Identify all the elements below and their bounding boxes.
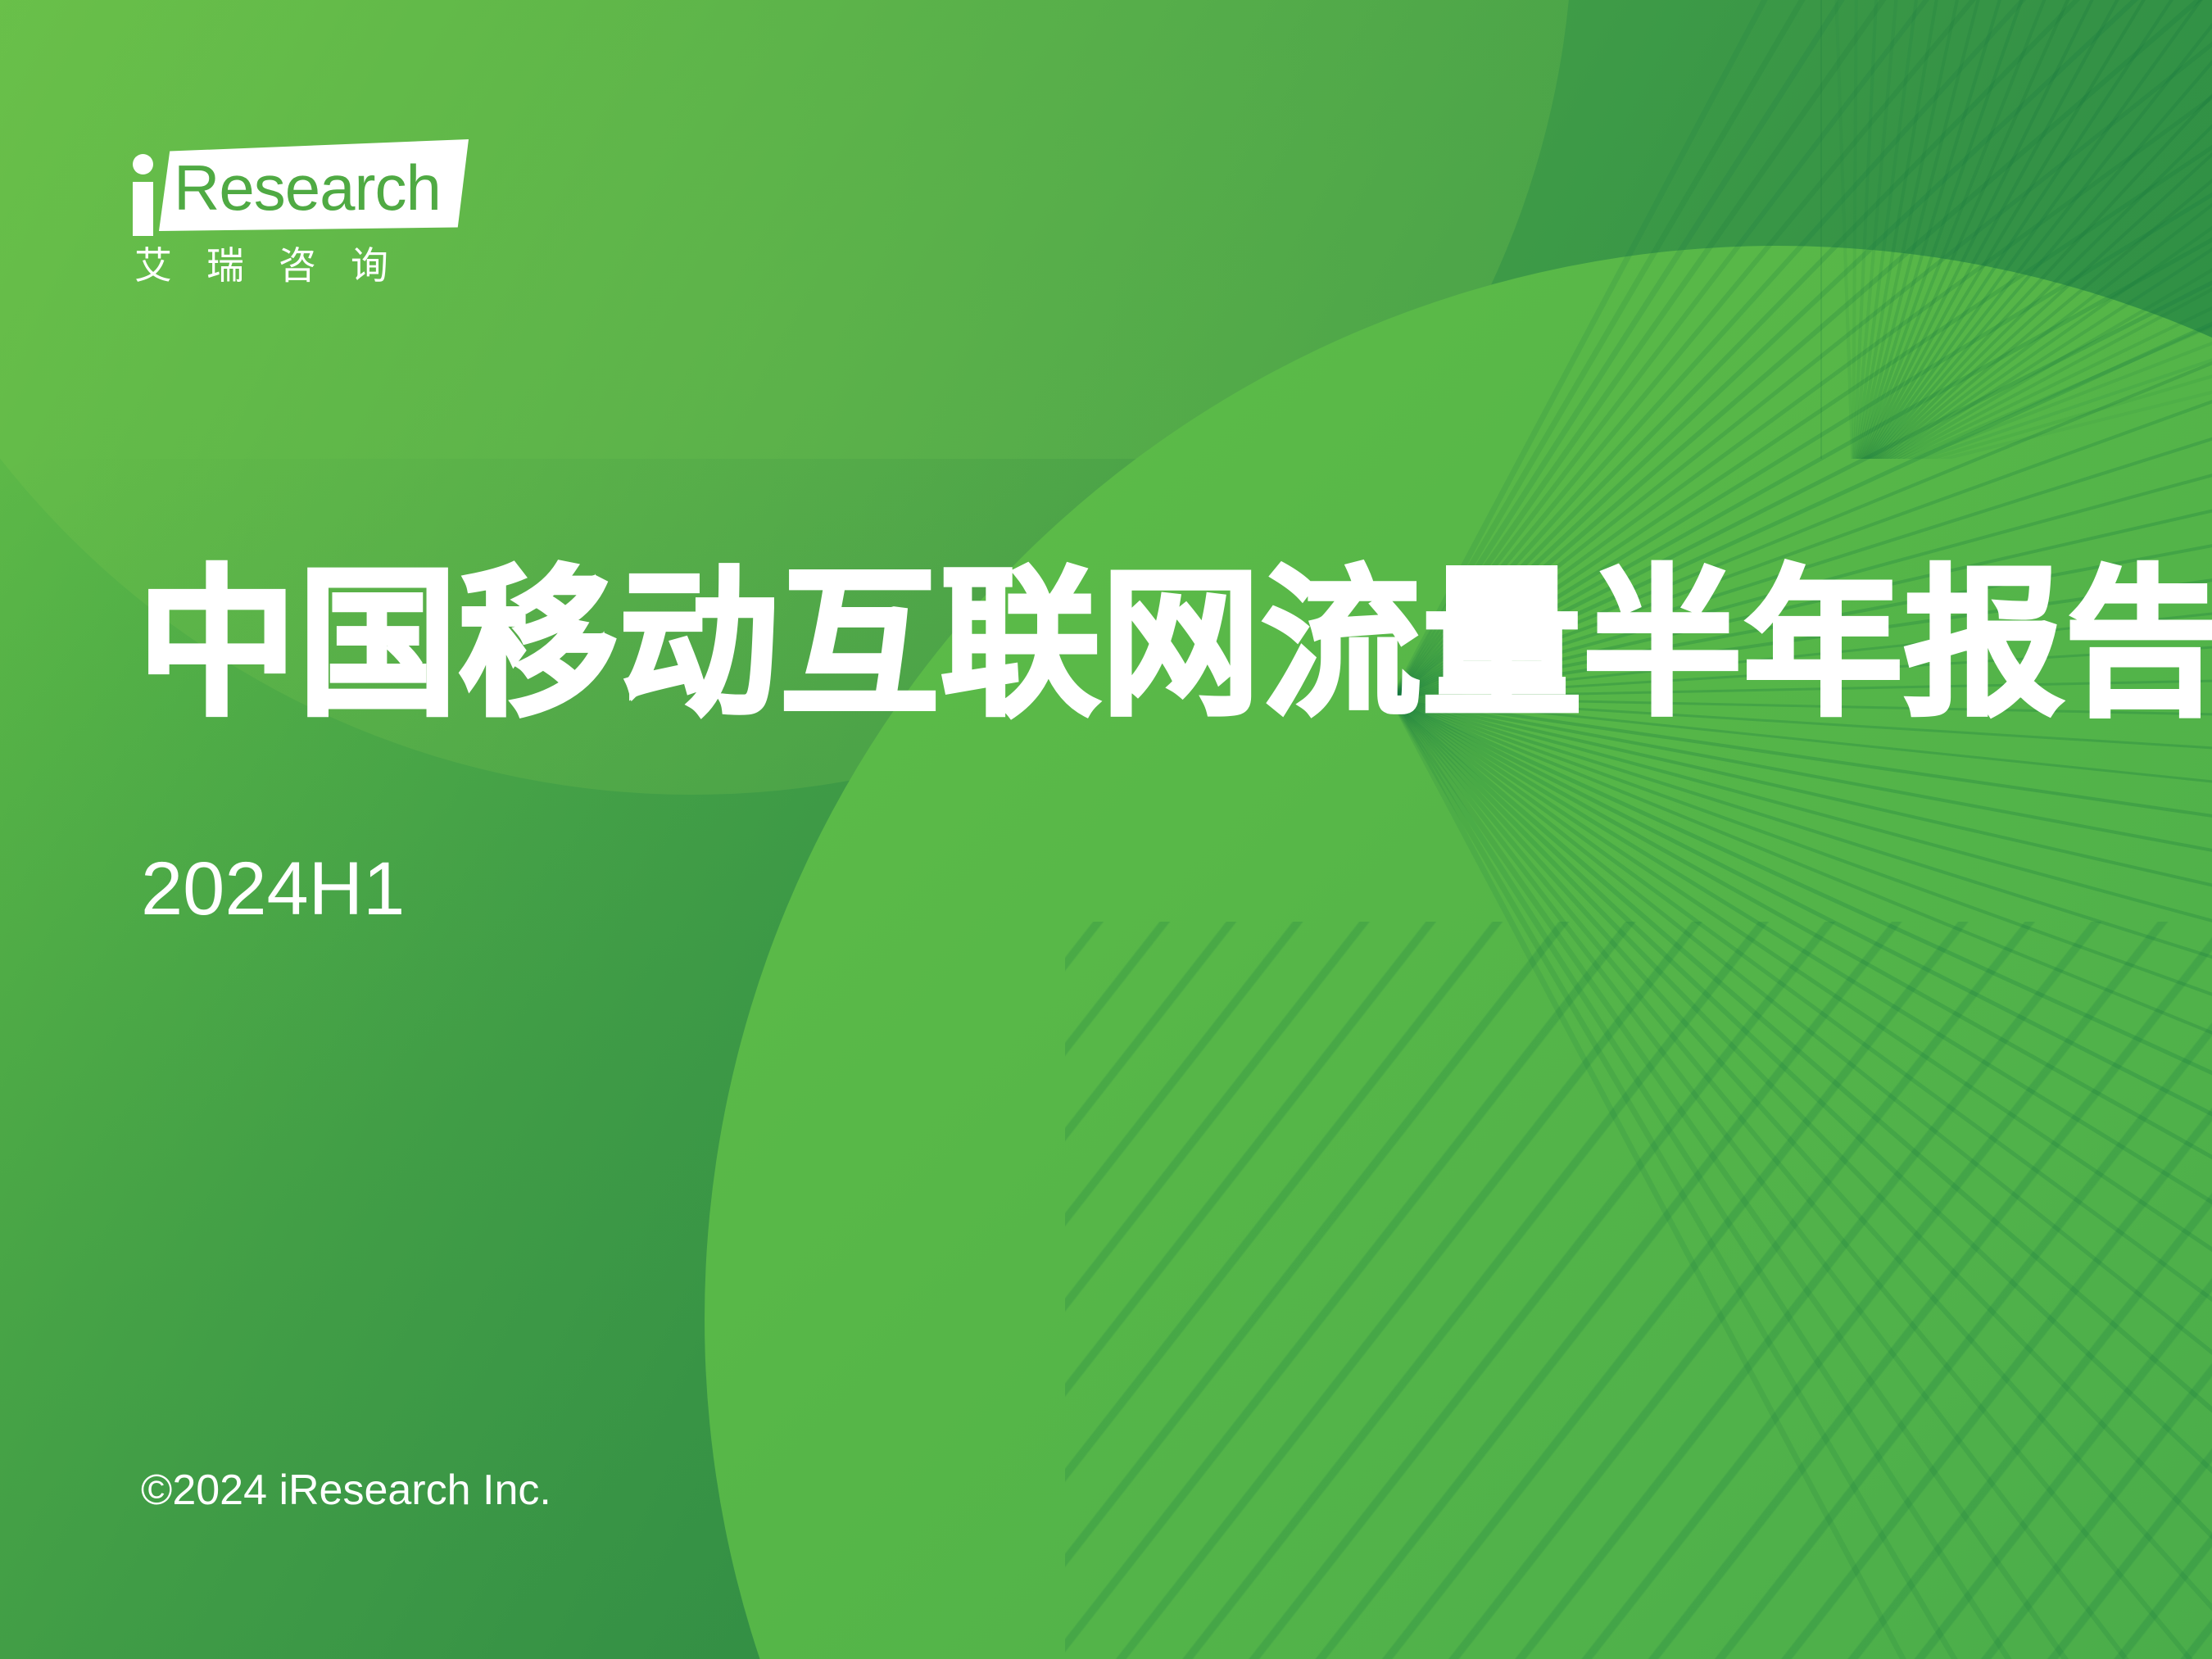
logo-mark: Research	[131, 139, 475, 238]
page-title: 中国移动互联网流量半年报告	[138, 551, 2212, 739]
iresearch-logo: Research 艾瑞咨询	[131, 139, 475, 303]
logo-i-letter	[131, 154, 152, 223]
logo-chinese-name: 艾瑞咨询	[134, 244, 423, 287]
logo-i-stem	[133, 182, 153, 236]
page-subtitle: 2024H1	[141, 844, 405, 934]
copyright-notice: ©2024 iResearch Inc.	[141, 1465, 551, 1516]
corner-sunburst-lines	[1820, 0, 2212, 459]
logo-i-dot	[133, 154, 153, 175]
cover-slide: Research 艾瑞咨询 中国移动互联网流量半年报告 2024H1 ©2024…	[0, 0, 2212, 1659]
logo-wordmark: Research	[174, 156, 441, 220]
